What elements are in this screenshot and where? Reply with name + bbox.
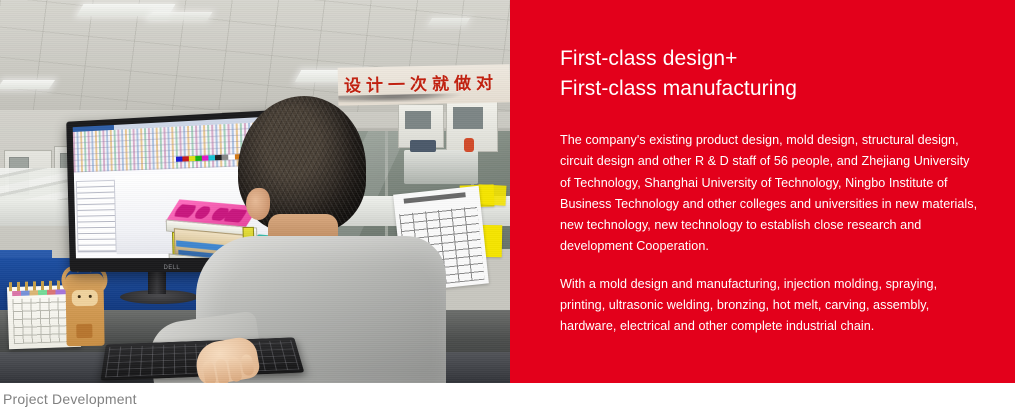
photo-caption: Project Development	[3, 390, 137, 408]
panel-paragraph-2: With a mold design and manufacturing, in…	[560, 274, 981, 338]
finger	[240, 354, 254, 377]
panel-heading-line-1: First-class design+	[560, 44, 981, 74]
cad-model-tree-panel	[76, 180, 117, 253]
lab-equipment	[404, 150, 478, 184]
sticky-note	[477, 184, 506, 205]
chinese-banner: 设计一次就做对	[338, 64, 510, 106]
ceiling-light	[148, 12, 213, 20]
ox-eye	[89, 295, 92, 298]
glass-mullion	[385, 131, 388, 249]
ox-eye	[78, 295, 81, 298]
ox-face	[72, 290, 98, 306]
engineer-ear	[246, 188, 270, 220]
ox-badge	[76, 324, 92, 338]
cabinet-glass-panel	[405, 111, 431, 129]
panel-heading: First-class design+ First-class manufact…	[560, 44, 981, 104]
project-development-photo: 设计一次就做对	[0, 0, 510, 383]
ceiling-light	[0, 80, 55, 89]
panel-paragraph-1: The company's existing product design, m…	[560, 130, 981, 258]
panel-heading-line-2: First-class manufacturing	[560, 74, 981, 104]
cabinet-glass-panel	[453, 107, 483, 129]
monitor-brand-label: DELL	[163, 265, 180, 271]
red-content-panel: First-class design+ First-class manufact…	[510, 0, 1015, 383]
ceiling-light	[428, 18, 470, 25]
page-root: 设计一次就做对	[0, 0, 1015, 410]
form-title-bar	[404, 192, 466, 203]
ox-mascot-figure	[65, 274, 104, 347]
